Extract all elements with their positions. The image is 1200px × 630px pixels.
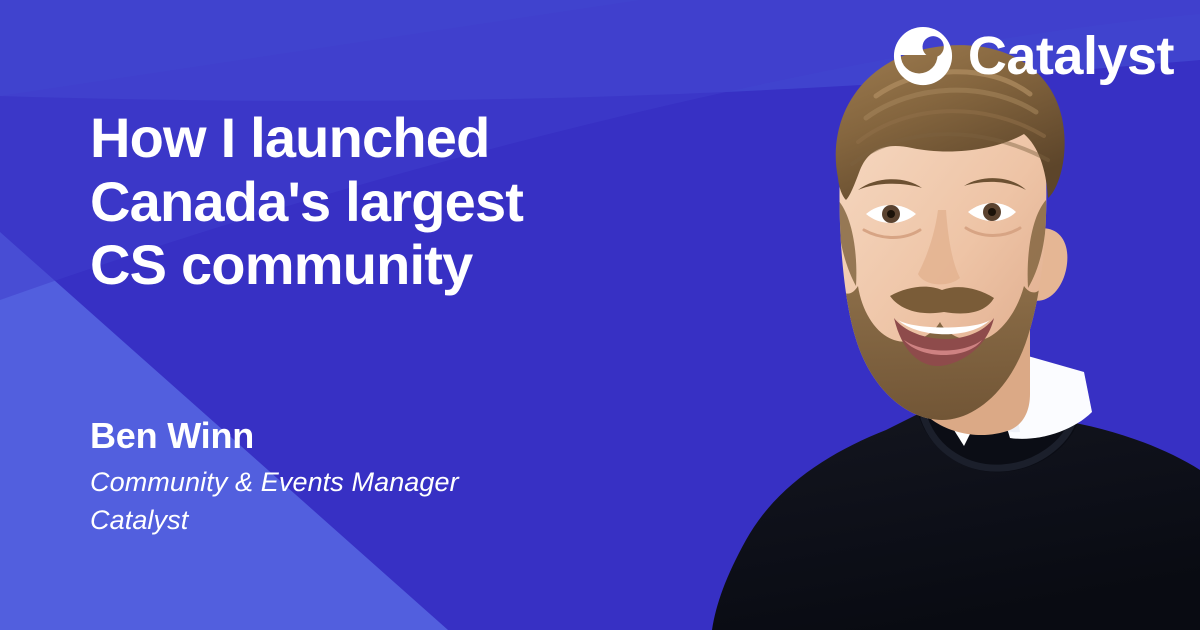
speaker-portrait [680,0,1200,630]
brand-wordmark: Catalyst [968,29,1174,83]
headline-line-1: How I launched [90,106,523,170]
ear [1032,228,1067,301]
speaker-portrait-svg [680,0,1200,630]
speaker-organization: Catalyst [90,501,459,539]
shirt-collar [930,352,1092,446]
eyebrows [858,178,1026,190]
nose [918,210,960,284]
headline: How I launched Canada's largest CS commu… [90,106,523,297]
social-share-card: How I launched Canada's largest CS commu… [0,0,1200,630]
sweater [712,398,1200,630]
speaker-role: Community & Events Manager [90,463,459,501]
brand-logo[interactable]: Catalyst [892,25,1174,87]
catalyst-smile-circle-icon [892,25,954,87]
face [830,78,1053,436]
eyes [864,203,1020,238]
headline-line-3: CS community [90,233,523,297]
mouth [894,318,994,366]
neck [910,300,1030,435]
speaker-name: Ben Winn [90,413,459,458]
beard [830,200,1053,436]
headline-line-2: Canada's largest [90,170,523,234]
speaker-credit: Ben Winn Community & Events Manager Cata… [90,413,459,540]
